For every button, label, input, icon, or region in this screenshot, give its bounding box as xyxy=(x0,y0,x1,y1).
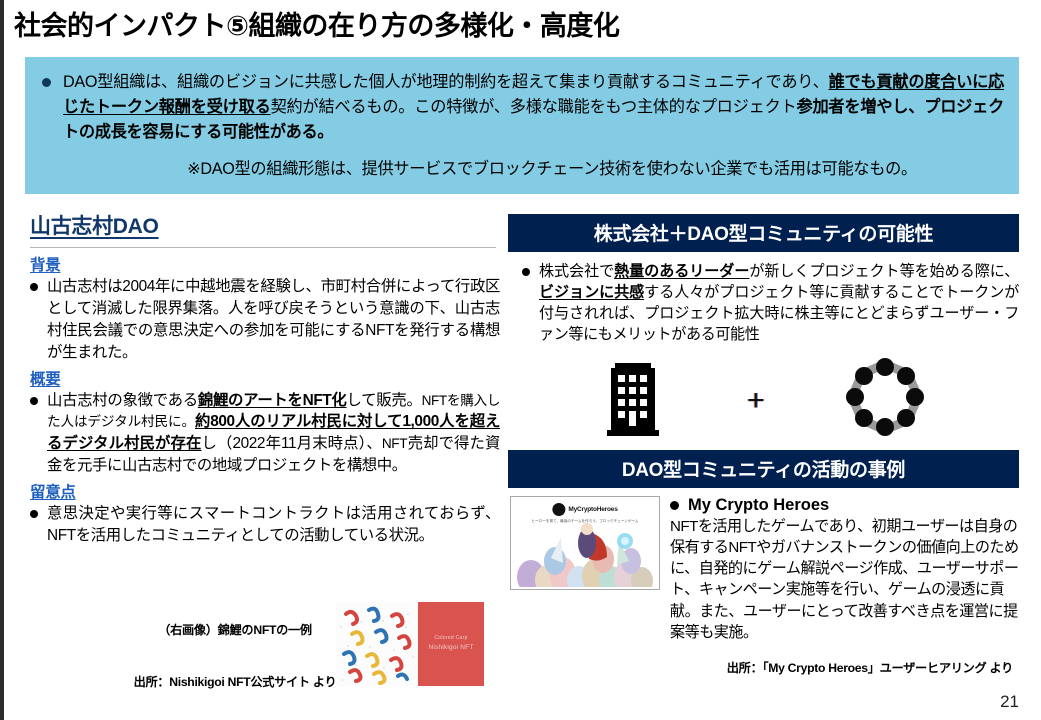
nft-image-caption-text: （右画像）錦鯉のNFTの一例 xyxy=(110,620,360,638)
list-item-text: 株式会社で熱量のあるリーダーが新しくプロジェクト等を始める際に、ビジョンに共感す… xyxy=(539,261,1019,346)
case-study-text-block: My Crypto Heroes NFTを活用したゲームであり、初期ユーザーは自… xyxy=(660,496,1019,643)
callout-note-text: ※DAO型の組織形態は、提供サービスでブロックチェーン技術を使わない企業でも活用… xyxy=(87,158,1017,181)
list-item: 株式会社で熱量のあるリーダーが新しくプロジェクト等を始める際に、ビジョンに共感す… xyxy=(508,261,1019,346)
list-item-text: 山古志村は2004年に中越地震を経験し、市町村合併によって行政区として消滅した限… xyxy=(47,276,500,364)
page-title: 社会的インパクト⑤組織の在り方の多様化・高度化 xyxy=(14,12,1014,42)
section-notes: 留意点 意思決定や実行等にスマートコントラクトは活用されておらず、NFTを活用し… xyxy=(30,480,500,547)
bullet-dot-icon xyxy=(670,501,679,510)
slide-root: 社会的インパクト⑤組織の在り方の多様化・高度化 DAO型組織は、組織のビジョンに… xyxy=(0,0,1041,720)
list-item: 山古志村の象徴である錦鯉のアートをNFT化して販売。NFTを購入した人はデジタル… xyxy=(30,390,500,478)
left-column-title: 山古志村DAO xyxy=(30,210,500,240)
left-column: 山古志村DAO 背景 山古志村は2004年に中越地震を経験し、市町村合併によって… xyxy=(30,210,500,548)
list-item: 意思決定や実行等にスマートコントラクトは活用されておらず、NFTを活用したコミュ… xyxy=(30,503,500,547)
building-icon xyxy=(603,360,663,443)
section-header-bar-company-dao: 株式会社＋DAO型コミュニティの可能性 xyxy=(508,214,1019,252)
section-background: 背景 山古志村は2004年に中越地震を経験し、市町村合併によって行政区として消滅… xyxy=(30,253,500,364)
list-item-text: 意思決定や実行等にスマートコントラクトは活用されておらず、NFTを活用したコミュ… xyxy=(47,503,500,547)
left-column-divider xyxy=(30,247,496,248)
my-crypto-heroes-thumbnail: MyCryptoHeroes ヒーローを育て、最強のチームを作ろう。ブロックチェ… xyxy=(510,496,660,590)
section-header-bar-dao-cases: DAO型コミュニティの活動の事例 xyxy=(508,450,1019,488)
company-plus-dao-illustration: + xyxy=(508,358,1019,440)
callout-bullet-text: DAO型組織は、組織のビジョンに共感した個人が地理的制約を超えて集まり貢献するコ… xyxy=(63,70,1004,145)
case-body-text: NFTを活用したゲームであり、初期ユーザーは自身の保有するNFTやガバナンストー… xyxy=(670,516,1019,643)
case-study-row: MyCryptoHeroes ヒーローを育て、最強のチームを作ろう。ブロックチェ… xyxy=(508,496,1019,643)
callout-bullet-row: DAO型組織は、組織のビジョンに共感した個人が地理的制約を超えて集まり貢献するコ… xyxy=(42,70,1004,145)
summary-callout-box: DAO型組織は、組織のビジョンに共感した個人が地理的制約を超えて集まり貢献するコ… xyxy=(25,57,1019,194)
nft-brand-line2: Nishikigoi NFT xyxy=(428,643,473,653)
page-number: 21 xyxy=(1000,692,1019,712)
nft-koi-pattern xyxy=(336,602,418,686)
case-title: My Crypto Heroes xyxy=(688,496,829,515)
nishikigoi-nft-image: Colored Carp Nishikigoi NFT xyxy=(336,602,484,686)
sub-heading: 背景 xyxy=(30,253,500,275)
sub-heading: 概要 xyxy=(30,367,500,389)
bullet-dot-icon xyxy=(30,510,38,518)
dao-network-icon xyxy=(846,358,924,441)
nft-brand-line1: Colored Carp xyxy=(434,635,467,643)
section-overview: 概要 山古志村の象徴である錦鯉のアートをNFT化して販売。NFTを購入した人はデ… xyxy=(30,367,500,478)
thumbnail-subtext: ヒーローを育て、最強のチームを作ろう。ブロックチェーンゲーム xyxy=(525,519,645,524)
right-column-section-one: 株式会社＋DAO型コミュニティの可能性 株式会社で熱量のあるリーダーが新しくプロ… xyxy=(508,214,1019,346)
bullet-dot-icon xyxy=(42,78,51,87)
nft-image-caption: （右画像）錦鯉のNFTの一例 xyxy=(110,620,360,638)
my-crypto-heroes-logo: MyCryptoHeroes xyxy=(552,503,617,516)
plus-sign-icon: + xyxy=(747,386,765,416)
logo-badge-icon xyxy=(552,503,565,516)
bullet-dot-icon xyxy=(30,397,38,405)
section-one-body: 株式会社で熱量のあるリーダーが新しくプロジェクト等を始める際に、ビジョンに共感す… xyxy=(508,261,1019,346)
logo-wordmark: MyCryptoHeroes xyxy=(568,506,617,513)
right-column-section-two: DAO型コミュニティの活動の事例 xyxy=(508,450,1019,643)
list-item-text: 山古志村の象徴である錦鯉のアートをNFT化して販売。NFTを購入した人はデジタル… xyxy=(47,390,500,478)
nft-image-source: 出所：Nishikigoi NFT公式サイト より xyxy=(110,672,360,690)
sub-heading: 留意点 xyxy=(30,480,500,502)
case-title-row: My Crypto Heroes xyxy=(670,496,1019,515)
case-study-source: 出所：「My Crypto Heroes」ユーザーヒアリング より xyxy=(508,658,1013,676)
slide-left-edge-strip xyxy=(0,0,4,720)
nft-brand-panel: Colored Carp Nishikigoi NFT xyxy=(418,602,484,686)
bullet-dot-icon xyxy=(30,283,38,291)
list-item: 山古志村は2004年に中越地震を経験し、市町村合併によって行政区として消滅した限… xyxy=(30,276,500,364)
bullet-dot-icon xyxy=(522,268,530,276)
